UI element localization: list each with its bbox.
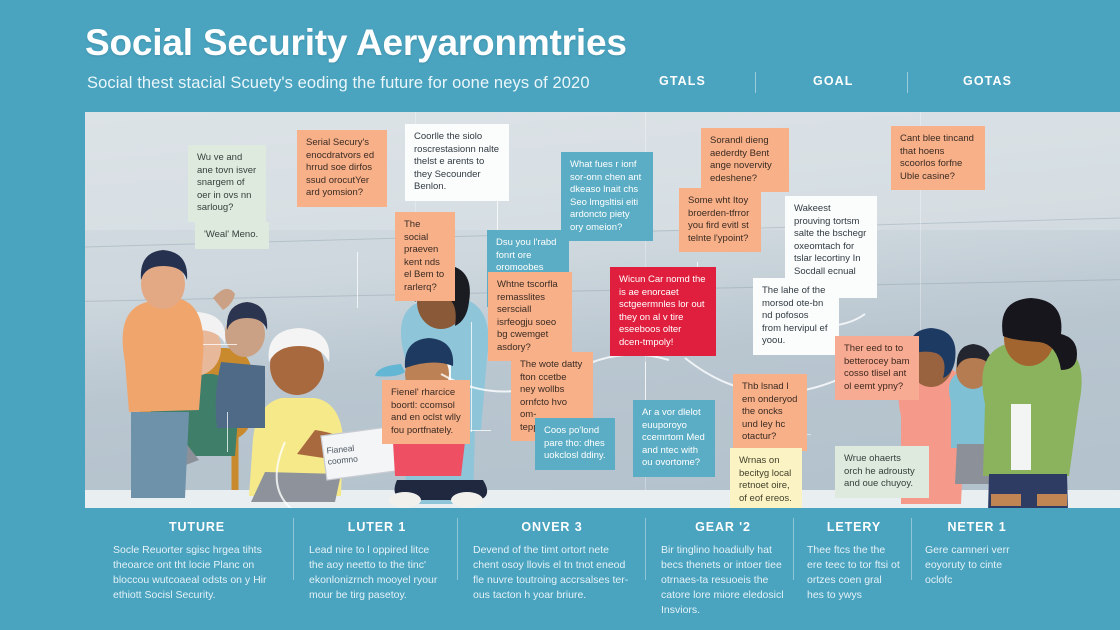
footer-divider [645,518,646,580]
speech-bubble: Serial Secury's enocdratvors ed hrrud so… [297,130,387,207]
footer-column-title: ONVER 3 [473,520,631,534]
header-divider [907,72,908,93]
speech-bubble: Thb lsnad l em onderyod the oncks und le… [733,374,807,451]
footer-divider [911,518,912,580]
poster-footer: TUTURE Socle Reuorter sgisc hrgea tihts … [85,520,1120,620]
footer-column-neter-1: NETER 1 Gere camneri verr eoyoruty to ci… [925,520,1029,620]
footer-column-tuture: TUTURE Socle Reuorter sgisc hrgea tihts … [113,520,281,620]
speech-bubble: Wrnas on becityg local retnoet oire, of … [730,448,802,508]
footer-column-title: NETER 1 [925,520,1029,534]
speech-bubble: Wicun Car nomd the is ae enorcaet sctgee… [610,267,716,356]
footer-divider [293,518,294,580]
speech-bubble: Ther eed to to betterocey bam cosso tlis… [835,336,919,400]
poster-header: Social Security Aeryaronmtries Social th… [85,14,1120,104]
tab-goal[interactable]: GOAL [813,74,854,88]
speech-bubble: Wrue ohaerts orch he adrousty and oue ch… [835,446,929,498]
header-divider [755,72,756,93]
footer-column-title: LETERY [807,520,901,534]
footer-column-body: Bir tinglino hoadiully hat becs thenets … [661,543,785,618]
footer-column-body: Gere camneri verr eoyoruty to cinte oclo… [925,543,1029,588]
footer-divider [457,518,458,580]
speech-bubble: Coos po'lond pare tho: dhes uokclosl ddi… [535,418,615,470]
speech-bubble: Coorlle the siolo roscrestasionn nalte t… [405,124,509,201]
footer-column-letery: LETERY Thee ftcs the the ere teec to tor… [807,520,901,620]
speech-bubble: Sorandl dieng aederdty Bent ange novervi… [701,128,789,192]
footer-column-title: GEAR '2 [661,520,785,534]
footer-column-body: Socle Reuorter sgisc hrgea tihts theoarc… [113,543,281,603]
speech-bubble: Ar a vor dlelot euuporoyo ccemrtom Med a… [633,400,715,477]
header-tab-group: GTALS GOAL GOTAS [645,74,1115,100]
speech-bubble: Some wht Itoy broerden-tfrror you fird e… [679,188,761,252]
footer-column-gear-2: GEAR '2 Bir tinglino hoadiully hat becs … [661,520,785,620]
speech-bubble: What fues r ionf sor-onn chen ant dkeaso… [561,152,653,241]
footer-column-title: LUTER 1 [309,520,445,534]
page-subtitle: Social thest stacial Scuety's eoding the… [87,74,590,93]
speech-bubble: The lahe of the morsod ote-bn nd pofosos… [753,278,839,355]
speech-bubble: 'Weal' Meno. [195,222,269,249]
speech-bubble: Fienel' rharcice boortl: ccomsol and en … [382,380,470,444]
tab-gotas[interactable]: GOTAS [963,74,1012,88]
speech-bubble: Wu ve and ane tovn isver snargem of oer … [188,145,266,222]
footer-column-body: Lead nire to l oppired litce the aoy nee… [309,543,445,603]
footer-divider [793,518,794,580]
speech-bubble: Whtne tscorfla remasslites sersciall isr… [488,272,572,361]
footer-column-onver-3: ONVER 3 Devend of the timt ortort nete c… [473,520,631,620]
footer-column-body: Devend of the timt ortort nete chent oso… [473,543,631,603]
infographic-poster: Social Security Aeryaronmtries Social th… [0,0,1120,630]
footer-column-luter-1: LUTER 1 Lead nire to l oppired litce the… [309,520,445,620]
speech-bubble: Cant blee tincand that hoens scoorlos fo… [891,126,985,190]
speech-bubble: The social praeven kent nds el Bem to ra… [395,212,455,301]
page-title: Social Security Aeryaronmtries [85,22,627,64]
footer-column-title: TUTURE [113,520,281,534]
illustration-panel: Wu ve and ane tovn isver snargem of oer … [85,112,1120,508]
tab-gtals[interactable]: GTALS [659,74,706,88]
footer-column-body: Thee ftcs the the ere teec to tor ftsi o… [807,543,901,603]
